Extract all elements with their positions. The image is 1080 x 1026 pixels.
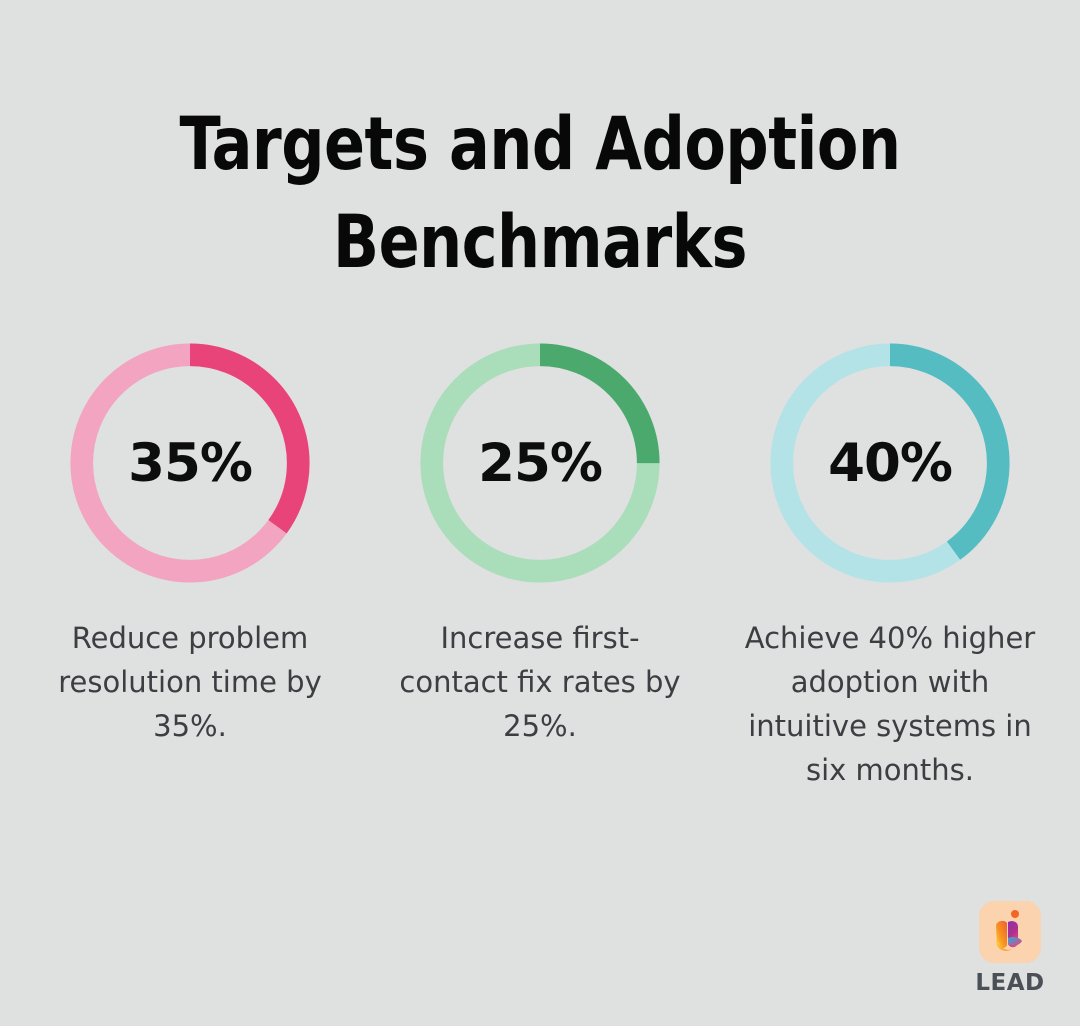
- brand-logo: LEAD: [962, 901, 1058, 996]
- donut-chart: 35%: [67, 340, 313, 586]
- benchmark-caption: Increase first-contact fix rates by 25%.: [390, 616, 690, 748]
- logo-wordmark: LEAD: [975, 970, 1044, 996]
- page-title: Targets and Adoption Benchmarks: [0, 96, 1080, 292]
- benchmark-caption: Reduce problem resolution time by 35%.: [40, 616, 340, 748]
- donut-percentage-label: 40%: [767, 340, 1013, 586]
- donut-chart: 40%: [767, 340, 1013, 586]
- benchmark-card: 35% Reduce problem resolution time by 35…: [15, 340, 365, 748]
- donut-percentage-label: 35%: [67, 340, 313, 586]
- page-title-line-2: Benchmarks: [43, 194, 1037, 292]
- benchmark-card-row: 35% Reduce problem resolution time by 35…: [0, 340, 1080, 792]
- lead-mark-icon: [988, 908, 1032, 956]
- page-title-line-1: Targets and Adoption: [43, 96, 1037, 194]
- donut-percentage-label: 25%: [417, 340, 663, 586]
- infographic-slide: Targets and Adoption Benchmarks 35% Redu…: [0, 0, 1080, 1026]
- logo-badge: [979, 901, 1041, 963]
- benchmark-caption: Achieve 40% higher adoption with intuiti…: [740, 616, 1040, 792]
- lead-mark-dot: [1011, 910, 1019, 918]
- benchmark-card: 40% Achieve 40% higher adoption with int…: [715, 340, 1065, 792]
- donut-chart: 25%: [417, 340, 663, 586]
- benchmark-card: 25% Increase first-contact fix rates by …: [365, 340, 715, 748]
